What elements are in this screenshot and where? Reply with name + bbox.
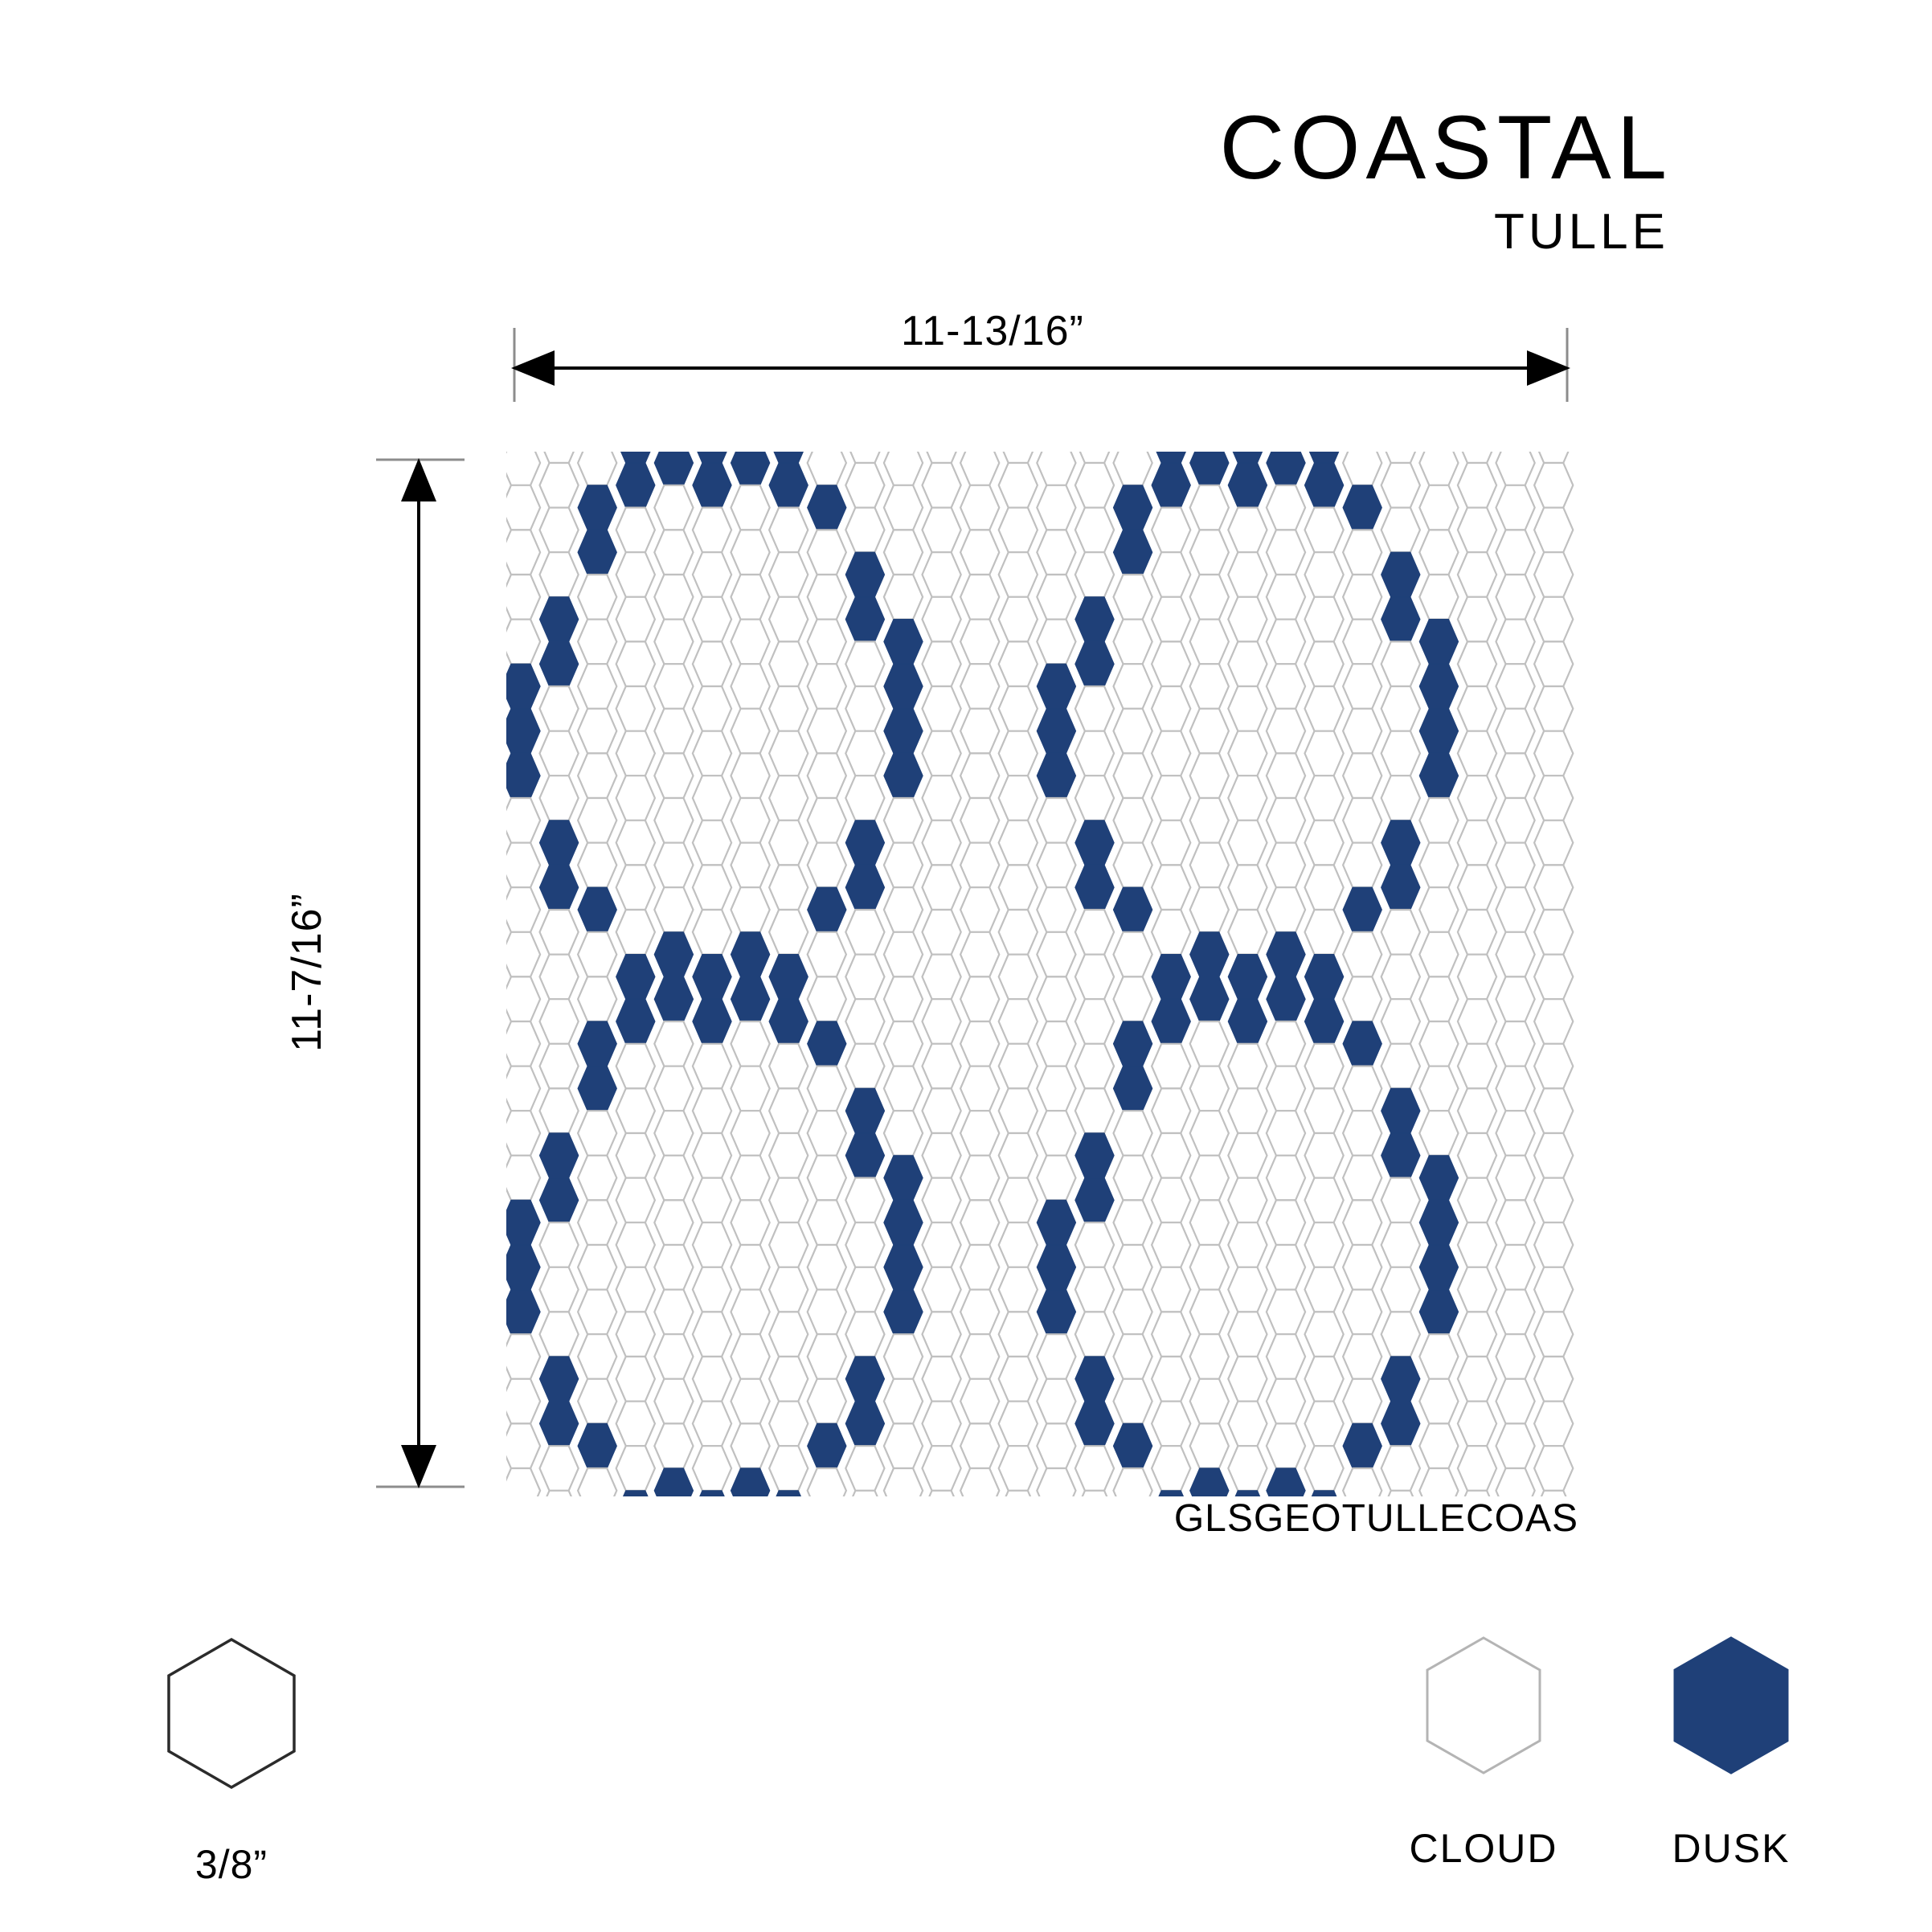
hex-tile-cloud [923,686,961,731]
hex-tile-cloud [506,887,540,932]
hex-tile-cloud [1152,1222,1190,1267]
hex-tile-dusk [1419,709,1458,754]
width-dimension-label: 11-13/16” [0,307,1932,355]
hex-tile-dusk [1075,1178,1114,1223]
hex-tile-cloud [540,1267,579,1312]
hex-tile-cloud [999,641,1038,686]
hex-tile-cloud [1496,664,1535,709]
hex-tile-cloud [960,887,999,932]
hex-tile-cloud [845,955,884,1000]
hex-tile-cloud [1381,1178,1420,1223]
hex-tile-cloud [616,508,655,553]
hex-tile-cloud [999,999,1038,1044]
hex-tile-cloud [808,1066,846,1111]
hex-tile-cloud [1305,1222,1344,1267]
hex-tile-cloud [506,452,540,485]
hex-tile-cloud [616,821,655,866]
hex-tile-cloud [578,843,616,888]
hex-tile-cloud [1267,1111,1305,1156]
hex-tile-cloud [1305,686,1344,731]
hex-tile-dusk [1343,1423,1381,1468]
hex-tile-cloud [693,1357,731,1402]
hex-tile-cloud [654,1200,693,1245]
hex-tile-cloud [616,597,655,642]
hex-tile-cloud [1267,1334,1305,1379]
hex-tile-cloud [1534,1402,1573,1447]
hex-tile-cloud [1228,1402,1267,1447]
hex-tile-dusk [845,552,884,597]
hex-tile-cloud [1228,1222,1267,1267]
hex-tile-cloud [1458,1222,1496,1267]
hex-tile-cloud [1496,620,1535,665]
hex-tile-cloud [1037,1021,1075,1066]
hex-tile-dusk [1343,485,1381,530]
hex-tile-dusk [1190,452,1229,485]
hex-tile-cloud [540,552,579,597]
hex-tile-cloud [808,709,846,754]
hex-tile-cloud [506,1379,540,1424]
hex-tile-dusk [1152,463,1190,508]
hex-tile-cloud [1305,1312,1344,1357]
size-legend-label: 3/8” [127,1841,336,1888]
hex-tile-dusk [1419,664,1458,709]
hex-tile-cloud [960,530,999,575]
hex-tile-cloud [506,530,540,575]
hex-tile-dusk [808,485,846,530]
hex-tile-cloud [1381,731,1420,776]
hex-tile-cloud [654,843,693,888]
hex-tile-cloud [540,910,579,955]
hex-tile-cloud [1458,865,1496,910]
hex-tile-cloud [616,1044,655,1089]
hex-tile-cloud [1534,463,1573,508]
hex-tile-cloud [506,1156,540,1201]
hex-tile-cloud [1037,843,1075,888]
hex-tile-cloud [1496,798,1535,843]
hex-tile-cloud [960,976,999,1021]
hex-tile-cloud [616,776,655,821]
hex-tile-cloud [1381,686,1420,731]
hex-tile-cloud [1152,1312,1190,1357]
hex-tile-dusk [616,452,655,463]
hex-tile-cloud [1075,1446,1114,1491]
hex-tile-cloud [1496,976,1535,1021]
hex-tile-cloud [999,1222,1038,1267]
height-arrowhead-top [401,458,436,501]
hex-tile-dusk [1190,976,1229,1021]
hex-tile-cloud [1228,776,1267,821]
hex-tile-cloud [693,597,731,642]
hex-tile-cloud [1075,1088,1114,1133]
hex-tile-cloud [1496,709,1535,754]
hex-tile-cloud [1228,641,1267,686]
hex-tile-cloud [999,463,1038,508]
hex-tile-cloud [923,1267,961,1312]
hex-tile-cloud [1496,1468,1535,1496]
hex-tile-cloud [1343,1334,1381,1379]
hex-tile-dusk [808,1423,846,1468]
hex-tile-cloud [616,1357,655,1402]
hex-tile-cloud [923,731,961,776]
hex-tile-dusk [506,664,540,709]
hex-tile-dusk [1381,1402,1420,1447]
hex-tile-cloud [1419,1379,1458,1424]
hex-tile-dusk [845,1402,884,1447]
hex-tile-cloud [506,1111,540,1156]
hex-tile-cloud [1496,887,1535,932]
hex-tile-cloud [578,932,616,977]
hex-tile-cloud [1534,999,1573,1044]
hex-tile-dusk [1075,1133,1114,1178]
hex-tile-cloud [654,620,693,665]
hex-tile-cloud [1114,1156,1152,1201]
hex-tile-cloud [845,910,884,955]
hex-tile-cloud [1419,887,1458,932]
hex-tile-cloud [884,530,923,575]
hex-tile-cloud [999,452,1038,463]
hex-tile-cloud [923,821,961,866]
hex-tile-cloud [960,1468,999,1496]
hex-tile-cloud [731,1245,770,1290]
hex-tile-dusk [1152,999,1190,1044]
hex-tile-cloud [654,1111,693,1156]
hex-tile-dusk [1419,1290,1458,1335]
hex-tile-cloud [1190,1021,1229,1066]
hex-tile-cloud [1534,452,1573,463]
hex-tile-dusk [1419,753,1458,798]
hex-tile-cloud [1114,1200,1152,1245]
hex-tile-cloud [1228,686,1267,731]
hex-tile-dusk [769,999,808,1044]
hex-tile-dusk [578,1066,616,1111]
hex-tile-cloud [616,1312,655,1357]
hex-tile-cloud [654,1379,693,1424]
hex-tile-cloud [654,753,693,798]
hex-tile-cloud [845,641,884,686]
hex-tile-cloud [1190,530,1229,575]
hex-tile-dusk [1075,865,1114,910]
hex-tile-cloud [578,664,616,709]
hex-tile-cloud [808,1245,846,1290]
hex-tile-cloud [540,463,579,508]
hex-tile-cloud [506,1468,540,1496]
hex-tile-cloud [1267,1290,1305,1335]
hex-tile-cloud [1381,999,1420,1044]
hex-tile-cloud [1267,1379,1305,1424]
hex-tile-cloud [884,1021,923,1066]
hex-tile-cloud [1534,1357,1573,1402]
hex-tile-cloud [1152,508,1190,553]
hex-tile-cloud [1075,776,1114,821]
hex-tile-cloud [1228,910,1267,955]
hex-tile-cloud [1037,1379,1075,1424]
hex-tile-cloud [1267,798,1305,843]
hex-tile-cloud [616,552,655,597]
hex-tile-cloud [845,1491,884,1496]
hex-tile-dusk [1037,709,1075,754]
hex-tile-cloud [1037,530,1075,575]
hex-tile-cloud [1037,1334,1075,1379]
hex-tile-cloud [960,620,999,665]
hex-tile-dusk [1114,1423,1152,1468]
hex-tile-cloud [1305,1446,1344,1491]
hex-tile-cloud [999,1178,1038,1223]
hex-tile-cloud [1228,1357,1267,1402]
hex-tile-dusk [845,597,884,642]
hex-tile-cloud [1190,485,1229,530]
hex-tile-cloud [808,1111,846,1156]
hex-tile-cloud [731,530,770,575]
hex-tile-dusk [693,999,731,1044]
hex-tile-cloud [960,664,999,709]
hex-tile-cloud [808,530,846,575]
hex-tile-dusk [808,1021,846,1066]
hex-tile-cloud [808,664,846,709]
hex-tile-cloud [923,1178,961,1223]
hex-tile-cloud [999,552,1038,597]
hex-tile-cloud [1075,452,1114,463]
hex-tile-cloud [1228,1312,1267,1357]
hex-tile-cloud [1343,843,1381,888]
hex-tile-cloud [1267,843,1305,888]
hex-tile-cloud [1228,865,1267,910]
hex-tile-cloud [1267,1200,1305,1245]
hex-tile-dusk [578,1021,616,1066]
hex-tile-cloud [1458,1491,1496,1496]
hex-tile-cloud [616,1133,655,1178]
hex-tile-cloud [999,1491,1038,1496]
hex-tile-cloud [1343,1468,1381,1496]
hex-tile-dusk [845,821,884,866]
hex-tile-cloud [578,620,616,665]
hex-tile-cloud [999,508,1038,553]
hex-tile-cloud [1534,641,1573,686]
hex-tile-cloud [1190,1111,1229,1156]
hex-tile-dusk [1075,1402,1114,1447]
hex-tile-cloud [731,887,770,932]
hex-tile-cloud [845,1312,884,1357]
hex-tile-cloud [1152,1178,1190,1223]
hex-tile-cloud [1190,1334,1229,1379]
hex-tile-cloud [769,1044,808,1089]
hex-tile-dusk [693,452,731,463]
hex-tile-cloud [960,575,999,620]
hex-tile-dusk [1190,1468,1229,1496]
hex-tile-dusk [1419,1245,1458,1290]
hex-tile-cloud [540,1222,579,1267]
hex-tile-dusk [654,932,693,977]
hex-tile-cloud [923,1133,961,1178]
hex-tile-dusk [884,1290,923,1335]
size-legend: 3/8” [127,1633,336,1888]
hex-tile-cloud [1343,709,1381,754]
hex-tile-cloud [923,508,961,553]
hex-tile-cloud [769,686,808,731]
hex-tile-dusk [1305,463,1344,508]
hex-tile-dusk [808,887,846,932]
hex-tile-cloud [1381,1044,1420,1089]
hex-tile-cloud [1305,1402,1344,1447]
hex-tile-cloud [540,686,579,731]
hex-tile-cloud [731,1334,770,1379]
hex-tile-cloud [923,955,961,1000]
hex-tile-dusk [654,452,693,485]
hex-tile-dusk [540,597,579,642]
hex-tile-cloud [1343,1290,1381,1335]
hex-tile-cloud [1037,1156,1075,1201]
hex-tile-cloud [693,1402,731,1447]
hex-tile-cloud [884,843,923,888]
hex-tile-cloud [1419,1111,1458,1156]
hex-tile-cloud [540,1491,579,1496]
hex-tile-cloud [884,1423,923,1468]
hex-tile-cloud [769,821,808,866]
hex-tile-cloud [999,821,1038,866]
hex-tile-cloud [1152,821,1190,866]
hex-tile-cloud [923,1312,961,1357]
hex-tile-cloud [999,1446,1038,1491]
hex-tile-dusk [1381,1357,1420,1402]
hex-tile-cloud [1381,1491,1420,1496]
hex-tile-cloud [808,620,846,665]
hex-tile-cloud [960,1200,999,1245]
hex-tile-cloud [884,887,923,932]
color-legend-item-cloud: CLOUD [1403,1633,1564,1872]
hex-tile-cloud [1190,1200,1229,1245]
hex-tile-cloud [1343,1200,1381,1245]
hex-tile-dusk [884,1156,923,1201]
hex-tile-cloud [923,999,961,1044]
hex-tile-cloud [1458,1312,1496,1357]
hex-tile-cloud [616,1402,655,1447]
hex-tile-cloud [1075,1312,1114,1357]
hex-tile-cloud [1152,776,1190,821]
hex-tile-cloud [960,1379,999,1424]
collection-subtitle: TULLE [1220,207,1670,257]
hex-tile-dusk [1037,1200,1075,1245]
hex-tile-cloud [616,1088,655,1133]
height-dimension-label: 11-7/16” [283,893,331,1052]
hex-tile-cloud [1267,575,1305,620]
hex-tile-cloud [1496,1021,1535,1066]
hex-tile-cloud [1037,976,1075,1021]
hex-tile-dusk [1305,1491,1344,1496]
hex-tile-cloud [1458,1044,1496,1089]
hex-tile-cloud [1152,1446,1190,1491]
hex-tile-cloud [1190,1379,1229,1424]
hex-tile-dusk [1037,664,1075,709]
hex-tile-cloud [1496,843,1535,888]
sku-code: GLSGEOTULLECOAS [1174,1496,1578,1541]
hex-tile-cloud [578,753,616,798]
color-legend-label-cloud: CLOUD [1403,1825,1564,1872]
hex-tile-cloud [960,452,999,485]
width-arrowhead-left [511,350,555,386]
hex-tile-cloud [654,1156,693,1201]
hex-tile-cloud [578,575,616,620]
hex-tile-cloud [999,597,1038,642]
hex-tile-cloud [884,575,923,620]
hex-tile-cloud [923,1446,961,1491]
hex-tile-cloud [578,709,616,754]
hex-tile-cloud [731,843,770,888]
hex-tile-cloud [1458,1267,1496,1312]
color-legend-item-dusk: DUSK [1651,1633,1811,1872]
hex-tile-cloud [1496,1200,1535,1245]
hex-tile-dusk [616,999,655,1044]
hex-tile-cloud [731,753,770,798]
hex-tile-cloud [1496,1156,1535,1201]
hex-tile-dusk [1114,485,1152,530]
hex-tile-cloud [1343,798,1381,843]
hex-tile-cloud [616,1446,655,1491]
hex-tile-cloud [845,1446,884,1491]
hex-tile-cloud [1458,463,1496,508]
hex-tile-dusk [654,976,693,1021]
hex-tile-cloud [769,910,808,955]
hex-tile-cloud [654,1245,693,1290]
hex-tile-cloud [1496,1423,1535,1468]
hex-tile-cloud [1305,821,1344,866]
hex-tile-cloud [1152,552,1190,597]
hex-tile-dusk [1228,1491,1267,1496]
hex-tile-cloud [1114,575,1152,620]
hex-tile-cloud [1152,641,1190,686]
hex-tile-cloud [578,1156,616,1201]
hex-tile-cloud [960,1245,999,1290]
hex-tile-cloud [1228,597,1267,642]
hex-tile-cloud [884,1468,923,1496]
hex-tile-dusk [540,1133,579,1178]
hex-tile-cloud [693,865,731,910]
hex-tile-cloud [1305,552,1344,597]
hex-tile-cloud [693,1222,731,1267]
hex-tile-cloud [1458,1088,1496,1133]
hex-tile-cloud [731,620,770,665]
hex-tile-dusk [1267,1468,1305,1496]
hex-tile-cloud [1496,575,1535,620]
hex-tile-cloud [654,887,693,932]
hex-tile-cloud [1458,1446,1496,1491]
hex-tile-cloud [1228,1044,1267,1089]
hex-tile-cloud [808,1334,846,1379]
hex-tile-cloud [731,1423,770,1468]
hex-tile-cloud [1534,1312,1573,1357]
hex-tile-dusk [1343,887,1381,932]
hex-tile-cloud [1190,753,1229,798]
hex-tile-cloud [540,452,579,463]
hex-tile-cloud [884,452,923,485]
hex-tile-cloud [1305,641,1344,686]
hex-tile-cloud [731,1290,770,1335]
hex-tile-cloud [1305,597,1344,642]
hex-tile-cloud [1534,1088,1573,1133]
hex-tile-dusk [1075,641,1114,686]
hex-tile-cloud [923,1402,961,1447]
hex-tile-cloud [1190,1066,1229,1111]
hex-tile-cloud [1343,1156,1381,1201]
hex-tile-cloud [1037,798,1075,843]
hex-tile-cloud [1267,1423,1305,1468]
hex-tile-cloud [1458,999,1496,1044]
hex-tile-cloud [616,1267,655,1312]
hex-tile-cloud [1267,887,1305,932]
hex-tile-cloud [1343,530,1381,575]
hex-tile-cloud [769,865,808,910]
hex-tile-cloud [1534,910,1573,955]
hex-tile-cloud [654,1066,693,1111]
hex-tile-cloud [1228,1267,1267,1312]
